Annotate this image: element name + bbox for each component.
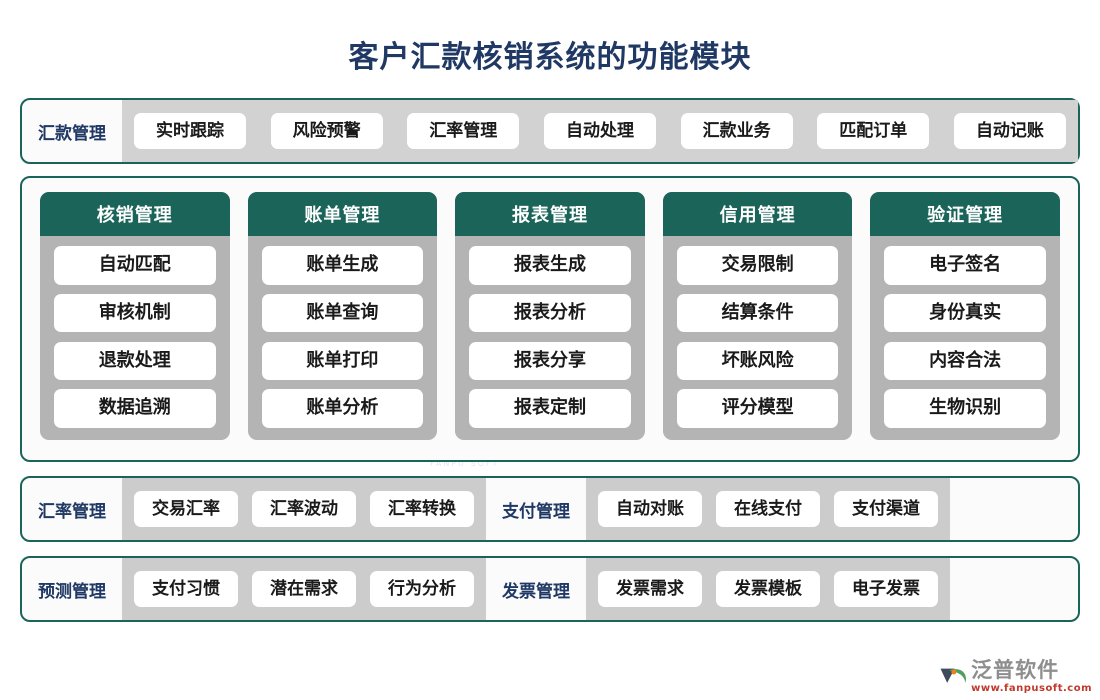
row4-strip: 预测管理 支付习惯 潜在需求 行为分析 发票管理 发票需求 发票模板 电子发票: [22, 558, 1078, 620]
chip-item[interactable]: 匹配订单: [817, 113, 929, 149]
chip-item[interactable]: 潜在需求: [252, 571, 356, 607]
column-item[interactable]: 账单分析: [262, 389, 424, 427]
column-item[interactable]: 审核机制: [54, 294, 216, 332]
row4-group0-band: 支付习惯 潜在需求 行为分析: [122, 558, 486, 620]
row4-group1-label: 发票管理: [486, 558, 586, 620]
page-title: 客户汇款核销系统的功能模块: [20, 0, 1080, 98]
chip-item[interactable]: 在线支付: [716, 491, 820, 527]
row1-strip: 汇款管理 实时跟踪 风险预警 汇率管理 自动处理 汇款业务 匹配订单 自动记账: [22, 100, 1078, 162]
module-column-1: 账单管理 账单生成 账单查询 账单打印 账单分析: [248, 192, 438, 440]
chip-item[interactable]: 发票需求: [598, 571, 702, 607]
chip-item[interactable]: 交易汇率: [134, 491, 238, 527]
chip-item[interactable]: 汇款业务: [681, 113, 793, 149]
chip-item[interactable]: 电子发票: [834, 571, 938, 607]
infographic-page: 客户汇款核销系统的功能模块 汇款管理 实时跟踪 风险预警 汇率管理 自动处理 汇…: [0, 0, 1100, 700]
column-body: 账单生成 账单查询 账单打印 账单分析: [248, 236, 438, 440]
column-title: 信用管理: [663, 192, 853, 236]
chip-item[interactable]: 行为分析: [370, 571, 474, 607]
column-item[interactable]: 报表生成: [469, 246, 631, 284]
forecast-invoice-row: 预测管理 支付习惯 潜在需求 行为分析 发票管理 发票需求 发票模板 电子发票: [20, 556, 1080, 622]
chip-item[interactable]: 自动记账: [954, 113, 1066, 149]
module-column-4: 验证管理 电子签名 身份真实 内容合法 生物识别: [870, 192, 1060, 440]
logo-name-cn: 泛普软件: [971, 660, 1092, 681]
column-body: 自动匹配 审核机制 退款处理 数据追溯: [40, 236, 230, 440]
remittance-management-row: 汇款管理 实时跟踪 风险预警 汇率管理 自动处理 汇款业务 匹配订单 自动记账: [20, 98, 1080, 164]
column-item[interactable]: 报表分享: [469, 342, 631, 380]
column-item[interactable]: 报表定制: [469, 389, 631, 427]
column-item[interactable]: 数据追溯: [54, 389, 216, 427]
row4-group0-label: 预测管理: [22, 558, 122, 620]
module-column-3: 信用管理 交易限制 结算条件 坏账风险 评分模型: [663, 192, 853, 440]
column-item[interactable]: 坏账风险: [677, 342, 839, 380]
row3-group-payment: 支付管理 自动对账 在线支付 支付渠道: [486, 478, 950, 540]
modules-columns: 核销管理 自动匹配 审核机制 退款处理 数据追溯 账单管理 账单生成 账单查询 …: [40, 192, 1060, 440]
chip-item[interactable]: 汇率波动: [252, 491, 356, 527]
logo-text: 泛普软件 www.fanpusoft.com: [971, 660, 1092, 694]
fanpusoft-logo: 泛普软件 www.fanpusoft.com: [938, 660, 1092, 694]
column-item[interactable]: 评分模型: [677, 389, 839, 427]
row3-group-exchange: 汇率管理 交易汇率 汇率波动 汇率转换: [22, 478, 486, 540]
row1-label: 汇款管理: [22, 100, 122, 162]
chip-item[interactable]: 风险预警: [271, 113, 383, 149]
column-item[interactable]: 报表分析: [469, 294, 631, 332]
row3-group1-band: 自动对账 在线支付 支付渠道: [586, 478, 950, 540]
fanpu-swoosh-icon: [938, 664, 968, 690]
chip-item[interactable]: 自动处理: [544, 113, 656, 149]
column-item[interactable]: 账单生成: [262, 246, 424, 284]
row4-group-invoice: 发票管理 发票需求 发票模板 电子发票: [486, 558, 950, 620]
logo-url: www.fanpusoft.com: [971, 684, 1092, 694]
column-title: 报表管理: [455, 192, 645, 236]
module-column-2: 报表管理 报表生成 报表分析 报表分享 报表定制: [455, 192, 645, 440]
module-column-verification-0: 核销管理 自动匹配 审核机制 退款处理 数据追溯: [40, 192, 230, 440]
column-title: 验证管理: [870, 192, 1060, 236]
column-title: 核销管理: [40, 192, 230, 236]
column-body: 报表生成 报表分析 报表分享 报表定制: [455, 236, 645, 440]
column-item[interactable]: 生物识别: [884, 389, 1046, 427]
exchange-payment-row: 汇率管理 交易汇率 汇率波动 汇率转换 支付管理 自动对账 在线支付 支付渠道: [20, 476, 1080, 542]
row3-group0-label: 汇率管理: [22, 478, 122, 540]
row3-strip: 汇率管理 交易汇率 汇率波动 汇率转换 支付管理 自动对账 在线支付 支付渠道: [22, 478, 1078, 540]
column-item[interactable]: 身份真实: [884, 294, 1046, 332]
column-item[interactable]: 自动匹配: [54, 246, 216, 284]
row4-group-forecast: 预测管理 支付习惯 潜在需求 行为分析: [22, 558, 486, 620]
column-item[interactable]: 内容合法: [884, 342, 1046, 380]
column-body: 电子签名 身份真实 内容合法 生物识别: [870, 236, 1060, 440]
chip-item[interactable]: 支付渠道: [834, 491, 938, 527]
chip-item[interactable]: 支付习惯: [134, 571, 238, 607]
row1-chip-band: 实时跟踪 风险预警 汇率管理 自动处理 汇款业务 匹配订单 自动记账: [122, 100, 1078, 162]
chip-item[interactable]: 汇率转换: [370, 491, 474, 527]
row3-group0-band: 交易汇率 汇率波动 汇率转换: [122, 478, 486, 540]
column-item[interactable]: 退款处理: [54, 342, 216, 380]
column-item[interactable]: 电子签名: [884, 246, 1046, 284]
chip-item[interactable]: 发票模板: [716, 571, 820, 607]
chip-item[interactable]: 汇率管理: [407, 113, 519, 149]
column-item[interactable]: 账单打印: [262, 342, 424, 380]
column-item[interactable]: 交易限制: [677, 246, 839, 284]
row4-group1-band: 发票需求 发票模板 电子发票: [586, 558, 950, 620]
column-item[interactable]: 账单查询: [262, 294, 424, 332]
column-item[interactable]: 结算条件: [677, 294, 839, 332]
chip-item[interactable]: 实时跟踪: [134, 113, 246, 149]
column-body: 交易限制 结算条件 坏账风险 评分模型: [663, 236, 853, 440]
column-title: 账单管理: [248, 192, 438, 236]
row3-group1-label: 支付管理: [486, 478, 586, 540]
chip-item[interactable]: 自动对账: [598, 491, 702, 527]
modules-columns-card: 核销管理 自动匹配 审核机制 退款处理 数据追溯 账单管理 账单生成 账单查询 …: [20, 176, 1080, 462]
